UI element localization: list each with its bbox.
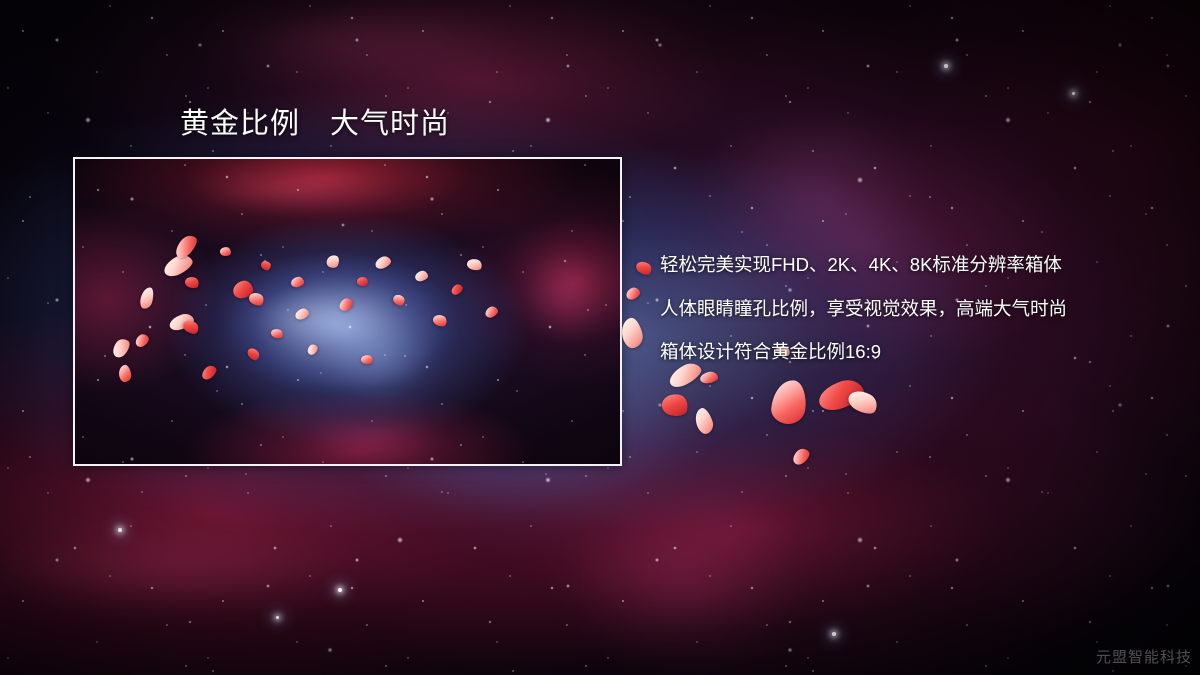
body-line-3: 箱体设计符合黄金比例16:9: [660, 343, 1180, 362]
presentation-slide: 黄金比例 大气时尚: [0, 0, 1200, 675]
inner-nebula-wisps: [75, 159, 620, 464]
body-line-1: 轻松完美实现FHD、2K、4K、8K标准分辨率箱体: [660, 256, 1180, 275]
body-text-block: 轻松完美实现FHD、2K、4K、8K标准分辨率箱体 人体眼睛瞳孔比例，享受视觉效…: [660, 256, 1180, 362]
page-title: 黄金比例 大气时尚: [180, 100, 450, 142]
body-line-2: 人体眼睛瞳孔比例，享受视觉效果，高端大气时尚: [660, 300, 1180, 319]
framed-nebula-image: [73, 157, 622, 466]
watermark-logo-text: 元盟智能科技: [1096, 646, 1192, 667]
